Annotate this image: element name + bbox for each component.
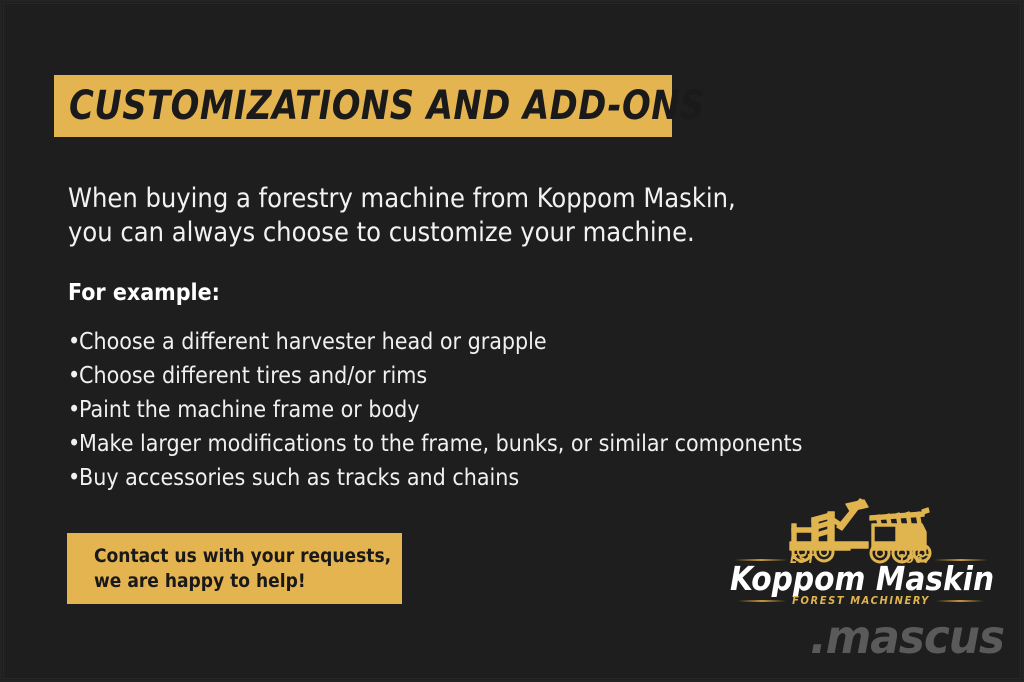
cta-line-2: we are happy to help! [94, 569, 402, 594]
bullet-icon: • [68, 359, 79, 393]
list-item: •Choose a different harvester head or gr… [68, 325, 828, 359]
intro-paragraph: When buying a forestry machine from Kopp… [68, 182, 788, 250]
contact-cta-button[interactable]: Contact us with your requests, we are ha… [67, 533, 402, 604]
intro-line-1: When buying a forestry machine from Kopp… [68, 182, 788, 216]
for-example-label: For example: [68, 279, 220, 307]
list-item: •Choose different tires and/or rims [68, 359, 828, 393]
bullet-icon: • [68, 325, 79, 359]
mascus-watermark: .mascus [739, 614, 1004, 660]
list-item: •Buy accessories such as tracks and chai… [68, 461, 828, 495]
bullet-icon: • [68, 393, 79, 427]
bullet-icon: • [68, 427, 79, 461]
logo-tagline: FOREST MACHINERY [730, 594, 992, 607]
advertisement-slide: CUSTOMIZATIONS AND ADD-ONS When buying a… [0, 0, 1024, 682]
koppom-maskin-logo: EST 1967 Koppom Maskin FOREST MACHINERY [730, 498, 992, 606]
title-banner: CUSTOMIZATIONS AND ADD-ONS [54, 75, 672, 137]
page-title: CUSTOMIZATIONS AND ADD-ONS [54, 86, 705, 126]
list-item-label: Buy accessories such as tracks and chain… [79, 465, 519, 491]
logo-tagline-row: FOREST MACHINERY [730, 595, 992, 607]
intro-line-2: you can always choose to customize your … [68, 216, 788, 250]
list-item-label: Make larger modifications to the frame, … [79, 431, 802, 457]
logo-company-name: Koppom Maskin [730, 562, 992, 596]
list-item-label: Choose a different harvester head or gra… [79, 329, 547, 355]
list-item: •Make larger modifications to the frame,… [68, 427, 828, 461]
list-item-label: Paint the machine frame or body [79, 397, 420, 423]
list-item-label: Choose different tires and/or rims [79, 363, 427, 389]
cta-line-1: Contact us with your requests, [94, 544, 402, 569]
bullet-icon: • [68, 461, 79, 495]
list-item: •Paint the machine frame or body [68, 393, 828, 427]
customization-options-list: •Choose a different harvester head or gr… [68, 325, 828, 495]
